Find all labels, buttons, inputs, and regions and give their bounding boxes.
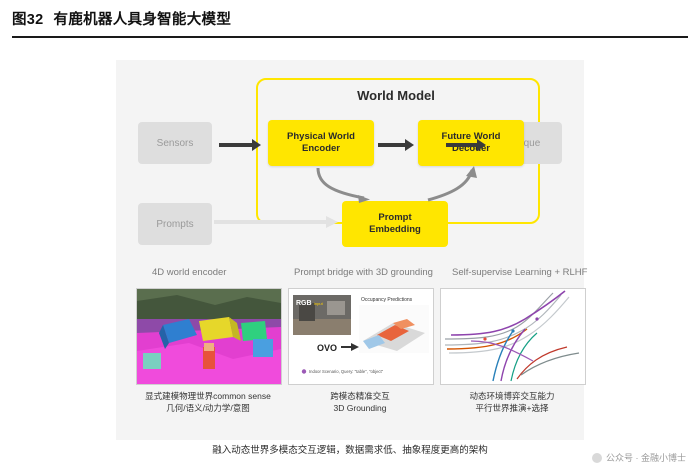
physical-world-encoder-box: Physical World Encoder bbox=[268, 120, 374, 166]
figure-header: 图32有鹿机器人具身智能大模型 bbox=[12, 8, 688, 38]
figure-number: 图32 bbox=[12, 12, 44, 28]
watermark-logo-icon bbox=[592, 453, 602, 463]
thumbnail-caption-bridge-line2: 3D Grounding bbox=[284, 402, 436, 414]
diagram-canvas: World Model Sensors Prompts Torque Physi… bbox=[116, 60, 584, 440]
svg-text:RGB: RGB bbox=[296, 300, 312, 307]
prompts-box: Prompts bbox=[138, 203, 212, 245]
thumbnail-caption-bridge: 跨模态精准交互 3D Grounding bbox=[284, 390, 436, 415]
future-world-decoder-line1: Future World bbox=[442, 131, 501, 143]
header-divider bbox=[12, 36, 688, 38]
thumbnail-caption-4d: 显式建模物理世界common sense 几何/语义/动力学/意图 bbox=[132, 390, 284, 415]
thumbnail-caption-ssl-line2: 平行世界推演+选择 bbox=[436, 402, 588, 414]
arrow-prompt-to-decoder bbox=[416, 166, 486, 206]
thumbnail-self-supervise bbox=[440, 288, 586, 385]
thumbnail-prompt-bridge: RGB input Occupancy Predictions OVO Indo… bbox=[288, 288, 434, 385]
prompts-label: Prompts bbox=[156, 218, 193, 231]
svg-text:OVO: OVO bbox=[317, 343, 337, 353]
thumbnail-caption-4d-line1: 显式建模物理世界common sense bbox=[132, 390, 284, 402]
world-model-title: World Model bbox=[256, 88, 536, 103]
thumbnail-caption-ssl-line1: 动态环境博弈交互能力 bbox=[436, 390, 588, 402]
svg-text:input: input bbox=[314, 301, 324, 306]
section-caption-4d-world-encoder: 4D world encoder bbox=[152, 267, 226, 278]
prompt-embedding-line1: Prompt bbox=[369, 212, 421, 224]
thumbnail-4d-world-encoder bbox=[136, 288, 282, 385]
arrow-encoder-to-prompt bbox=[312, 166, 382, 206]
thumbnail-caption-bridge-line1: 跨模态精准交互 bbox=[284, 390, 436, 402]
sensors-box: Sensors bbox=[138, 122, 212, 164]
watermark: 公众号 · 金融小博士 bbox=[592, 451, 686, 464]
figure-title-text: 有鹿机器人具身智能大模型 bbox=[54, 12, 232, 28]
prompt-embedding-box: Prompt Embedding bbox=[342, 201, 448, 247]
section-caption-self-supervise: Self-supervise Learning + RLHF bbox=[452, 267, 587, 278]
watermark-text: 公众号 · 金融小博士 bbox=[606, 451, 686, 464]
thumbnail-caption-4d-line2: 几何/语义/动力学/意图 bbox=[132, 402, 284, 414]
section-caption-prompt-bridge: Prompt bridge with 3D grounding bbox=[294, 267, 433, 278]
sensors-label: Sensors bbox=[157, 137, 194, 150]
arrow-prompts-to-prompt-embedding bbox=[212, 210, 344, 232]
thumbnail-caption-ssl: 动态环境博弈交互能力 平行世界推演+选择 bbox=[436, 390, 588, 415]
page-title: 图32有鹿机器人具身智能大模型 bbox=[12, 8, 688, 29]
svg-text:Indoor Scenario, Query: "table: Indoor Scenario, Query: "table", "object… bbox=[309, 369, 384, 374]
physical-world-encoder-line2: Encoder bbox=[287, 143, 355, 155]
svg-text:Occupancy Predictions: Occupancy Predictions bbox=[361, 297, 413, 303]
physical-world-encoder-line1: Physical World bbox=[287, 131, 355, 143]
prompt-embedding-line2: Embedding bbox=[369, 224, 421, 236]
